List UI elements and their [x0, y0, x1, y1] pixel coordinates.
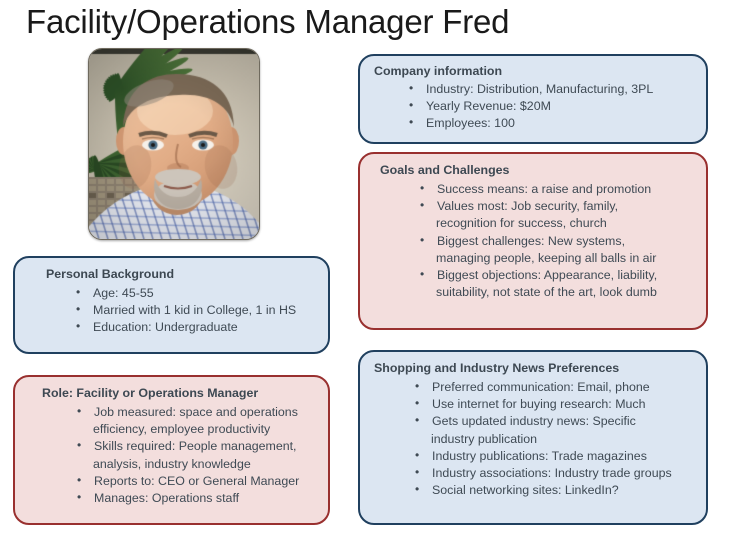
- persona-photo: [88, 48, 260, 240]
- list-item: Reports to: CEO or General Manager: [76, 473, 328, 490]
- list-item-continuation: analysis, industry knowledge: [93, 456, 328, 473]
- list-item: Employees: 100: [408, 115, 706, 132]
- goals-and-challenges-box: Goals and Challenges Success means: a ra…: [358, 152, 708, 330]
- list-item: Industry associations: Industry trade gr…: [414, 465, 706, 482]
- goals-and-challenges-list: Success means: a raise and promotionValu…: [419, 181, 706, 301]
- list-item: Yearly Revenue: $20M: [408, 98, 706, 115]
- list-item: Use internet for buying research: Much: [414, 396, 706, 413]
- company-information-list: Industry: Distribution, Manufacturing, 3…: [408, 81, 706, 133]
- shopping-and-industry-news-preferences-heading: Shopping and Industry News Preferences: [374, 360, 706, 377]
- shopping-and-industry-news-preferences-box: Shopping and Industry News Preferences P…: [358, 350, 708, 525]
- list-item: Education: Undergraduate: [75, 319, 328, 336]
- list-item-continuation: efficiency, employee productivity: [93, 421, 328, 438]
- list-item: Manages: Operations staff: [76, 490, 328, 507]
- list-item: Preferred communication: Email, phone: [414, 379, 706, 396]
- personal-background-heading: Personal Background: [46, 266, 328, 283]
- list-item: Biggest challenges: New systems,managing…: [419, 233, 706, 267]
- role-box: Role: Facility or Operations Manager Job…: [13, 375, 330, 525]
- persona-photo-image: [89, 49, 259, 239]
- role-list: Job measured: space and operationseffici…: [76, 404, 328, 507]
- list-item: Skills required: People management,analy…: [76, 438, 328, 472]
- list-item: Success means: a raise and promotion: [419, 181, 706, 198]
- personal-background-list: Age: 45-55Married with 1 kid in College,…: [75, 285, 328, 337]
- goals-and-challenges-heading: Goals and Challenges: [380, 162, 706, 179]
- shopping-and-industry-news-preferences-list: Preferred communication: Email, phoneUse…: [414, 379, 706, 499]
- list-item: Gets updated industry news: Specificindu…: [414, 413, 706, 447]
- list-item: Age: 45-55: [75, 285, 328, 302]
- list-item: Married with 1 kid in College, 1 in HS: [75, 302, 328, 319]
- list-item-continuation: managing people, keeping all balls in ai…: [436, 250, 706, 267]
- list-item-continuation: suitability, not state of the art, look …: [436, 284, 706, 301]
- company-information-box: Company information Industry: Distributi…: [358, 54, 708, 144]
- list-item: Industry: Distribution, Manufacturing, 3…: [408, 81, 706, 98]
- list-item-continuation: recognition for success, church: [436, 215, 706, 232]
- list-item: Job measured: space and operationseffici…: [76, 404, 328, 438]
- list-item-continuation: industry publication: [431, 431, 706, 448]
- personal-background-box: Personal Background Age: 45-55Married wi…: [13, 256, 330, 354]
- page-title: Facility/Operations Manager Fred: [26, 1, 509, 43]
- company-information-heading: Company information: [374, 63, 706, 80]
- role-heading: Role: Facility or Operations Manager: [42, 385, 328, 402]
- list-item: Industry publications: Trade magazines: [414, 448, 706, 465]
- list-item: Social networking sites: LinkedIn?: [414, 482, 706, 499]
- list-item: Values most: Job security, family,recogn…: [419, 198, 706, 232]
- list-item: Biggest objections: Appearance, liabilit…: [419, 267, 706, 301]
